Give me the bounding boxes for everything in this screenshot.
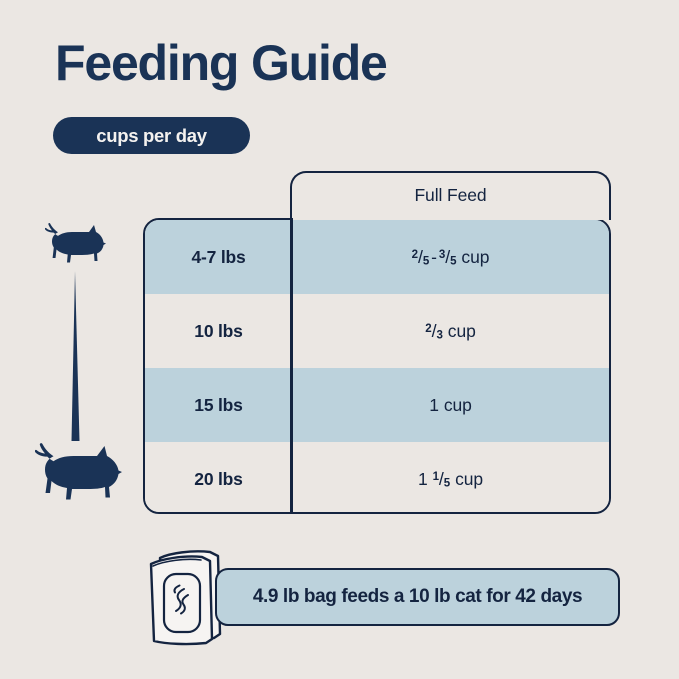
cell-amount: 11/5cup — [292, 469, 609, 490]
table-row: 10 lbs 2/3cup — [145, 294, 609, 368]
cell-weight: 4-7 lbs — [145, 247, 292, 268]
cell-amount: 1cup — [292, 395, 609, 416]
fraction-value: 2/3cup — [425, 321, 475, 341]
bag-duration-callout: 4.9 lb bag feeds a 10 lb cat for 42 days — [215, 568, 620, 626]
table-row: 15 lbs 1cup — [145, 368, 609, 442]
fraction-value: 1cup — [429, 395, 472, 415]
cell-weight: 20 lbs — [145, 469, 292, 490]
cell-weight: 10 lbs — [145, 321, 292, 342]
cat-size-illustration — [33, 215, 138, 510]
table-column-divider — [290, 218, 293, 514]
units-badge-label: cups per day — [96, 125, 207, 147]
full-feed-header-label: Full Feed — [414, 185, 486, 206]
fraction-value: 2/5-3/5cup — [412, 247, 490, 267]
cat-silhouette-large-icon — [35, 443, 123, 503]
cat-silhouette-small-icon — [45, 223, 107, 265]
feeding-guide-page: Feeding Guide cups per day Full Feed 4-7… — [0, 0, 679, 679]
fraction-value: 11/5cup — [418, 469, 483, 489]
bag-duration-text: 4.9 lb bag feeds a 10 lb cat for 42 days — [253, 586, 582, 608]
cell-weight: 15 lbs — [145, 395, 292, 416]
cell-amount: 2/3cup — [292, 321, 609, 342]
table-row: 4-7 lbs 2/5-3/5cup — [145, 220, 609, 294]
page-title: Feeding Guide — [55, 38, 387, 88]
feeding-table: 4-7 lbs 2/5-3/5cup 10 lbs 2/3cup 15 lbs — [143, 218, 611, 514]
table-row: 20 lbs 11/5cup — [145, 442, 609, 514]
units-badge: cups per day — [53, 117, 250, 154]
table-body: 4-7 lbs 2/5-3/5cup 10 lbs 2/3cup 15 lbs — [143, 218, 611, 514]
growth-wedge-icon — [65, 271, 85, 441]
cell-amount: 2/5-3/5cup — [292, 247, 609, 268]
table-column-header-full-feed: Full Feed — [290, 171, 611, 220]
